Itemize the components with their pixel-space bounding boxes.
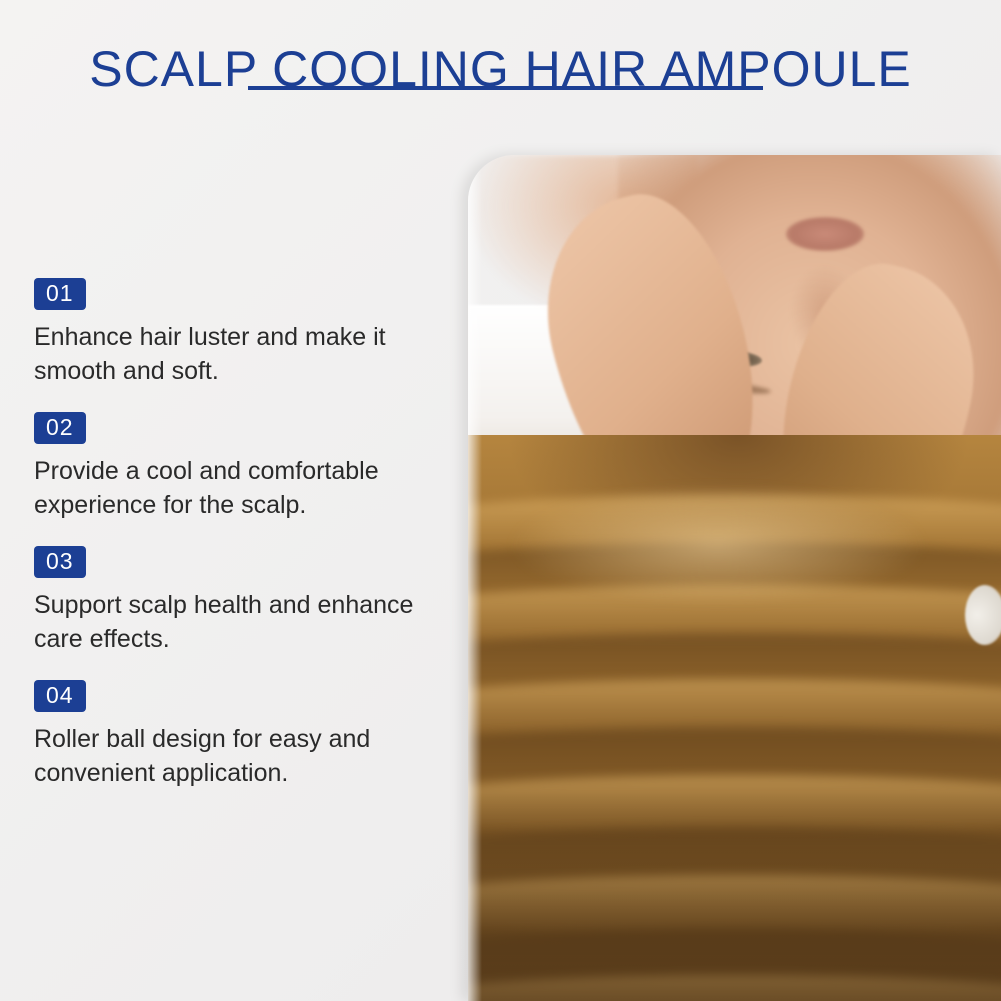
model-photo	[468, 155, 1001, 1001]
hair-highlight	[508, 485, 928, 605]
feature-item-04: 04 Roller ball design for easy and conve…	[34, 680, 454, 790]
feature-text: Roller ball design for easy and convenie…	[34, 722, 434, 790]
feature-number-badge: 03	[34, 546, 86, 578]
product-feature-page: SCALP COOLING HAIR AMPOULE 01 Enhance ha…	[0, 0, 1001, 1001]
feature-item-01: 01 Enhance hair luster and make it smoot…	[34, 278, 454, 388]
photo-bottom-shading	[468, 791, 1001, 1001]
feature-item-03: 03 Support scalp health and enhance care…	[34, 546, 454, 656]
feature-text: Enhance hair luster and make it smooth a…	[34, 320, 434, 388]
title-underline	[248, 86, 763, 90]
feature-number-badge: 04	[34, 680, 86, 712]
feature-number-badge: 01	[34, 278, 86, 310]
feature-number-badge: 02	[34, 412, 86, 444]
product-bottle-edge	[965, 585, 1001, 645]
feature-item-02: 02 Provide a cool and comfortable experi…	[34, 412, 454, 522]
feature-text: Support scalp health and enhance care ef…	[34, 588, 434, 656]
lips	[786, 217, 864, 251]
photo-left-edge-highlight	[468, 155, 482, 1001]
feature-text: Provide a cool and comfortable experienc…	[34, 454, 434, 522]
feature-list: 01 Enhance hair luster and make it smoot…	[34, 278, 454, 790]
